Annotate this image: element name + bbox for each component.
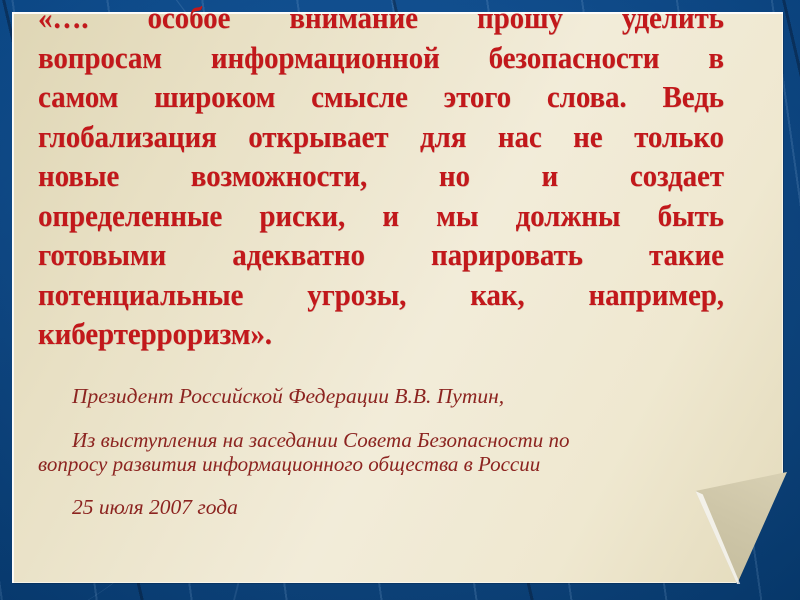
quote-line-3: самом широком смысле этого слова. Ведь <box>38 78 724 118</box>
attribution-source-line-2: вопросу развития информационного обществ… <box>38 452 760 476</box>
quote-line-8: потенциальные угрозы, как, например, <box>38 276 724 316</box>
quote-line-2: вопросам информационной безопасности в <box>38 39 724 79</box>
attribution-date: 25 июля 2007 года <box>38 476 760 520</box>
quote-line-7: готовыми адекватно парировать такие <box>38 236 724 276</box>
quote-text: «…. особое внимание прошу уделить вопрос… <box>38 0 724 355</box>
quote-line-1: «…. особое внимание прошу уделить <box>38 0 724 39</box>
quote-line-9: кибертерроризм». <box>38 315 724 355</box>
slide-content: «…. особое внимание прошу уделить вопрос… <box>12 12 783 583</box>
presentation-slide: «…. особое внимание прошу уделить вопрос… <box>0 0 800 600</box>
quote-line-5: новые возможности, но и создает <box>38 157 724 197</box>
attribution-source-line-1: Из выступления на заседании Совета Безоп… <box>38 428 760 452</box>
attribution-block: Президент Российской Федерации В.В. Пути… <box>38 383 760 520</box>
attribution-author: Президент Российской Федерации В.В. Пути… <box>38 383 760 409</box>
quote-line-6: определенные риски, и мы должны быть <box>38 197 724 237</box>
quote-line-4: глобализация открывает для нас не только <box>38 118 724 158</box>
attribution-source: Из выступления на заседании Совета Безоп… <box>38 409 760 476</box>
